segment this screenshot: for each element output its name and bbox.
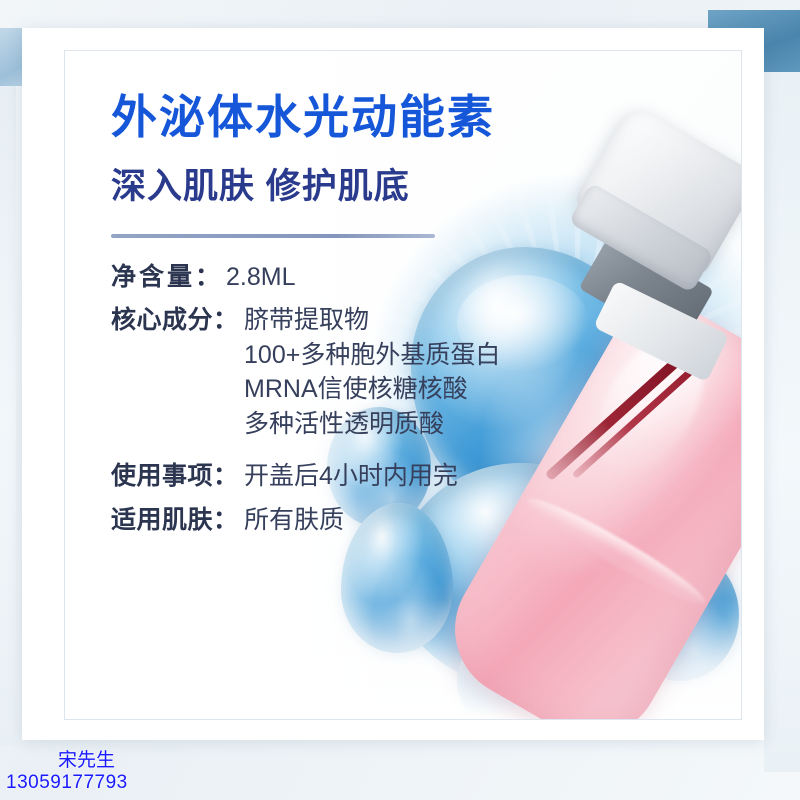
page-title: 外泌体水光动能素 <box>111 91 531 144</box>
ingredient-line: 100+多种胞外基质蛋白 <box>244 338 531 373</box>
spec-row-suitable-skin: 适用肌肤 ： 所有肤质 <box>111 503 531 538</box>
decor-edge-left <box>0 86 16 746</box>
spec-colon: ： <box>213 503 238 538</box>
spec-label: 净含量 <box>111 260 195 295</box>
water-droplet-icon <box>625 439 729 565</box>
spec-colon: ： <box>213 459 238 494</box>
spec-list: 净含量 ： 2.8ML 核心成分 ： 脐带提取物 100+多种胞外基质蛋白 MR… <box>111 260 531 538</box>
spec-value: 2.8ML <box>226 260 531 295</box>
card-inner-frame: 外泌体水光动能素 深入肌肤 修护肌底 净含量 ： 2.8ML 核心成分 ： 脐带… <box>64 50 742 720</box>
spec-row-usage: 使用事项 ： 开盖后4小时内用完 <box>111 459 531 494</box>
spec-value: 脐带提取物 100+多种胞外基质蛋白 MRNA信使核糖核酸 多种活性透明质酸 <box>244 303 531 441</box>
spec-row-core-ingredients: 核心成分 ： 脐带提取物 100+多种胞外基质蛋白 MRNA信使核糖核酸 多种活… <box>111 303 531 441</box>
decor-edge-right <box>764 72 800 772</box>
artwork-fade-bottom <box>65 599 741 719</box>
ingredient-line: 脐带提取物 <box>244 306 369 334</box>
title-divider <box>111 234 435 238</box>
spec-label: 适用肌肤 <box>111 503 213 538</box>
spec-value: 开盖后4小时内用完 <box>244 459 531 494</box>
spec-label: 使用事项 <box>111 459 213 494</box>
ingredient-line: 多种活性透明质酸 <box>244 407 531 442</box>
spec-colon: ： <box>213 303 238 338</box>
spec-value: 所有肤质 <box>244 503 531 538</box>
spec-colon: ： <box>195 260 220 295</box>
page-subtitle: 深入肌肤 修护肌底 <box>111 166 531 208</box>
product-info-card: 外泌体水光动能素 深入肌肤 修护肌底 净含量 ： 2.8ML 核心成分 ： 脐带… <box>22 28 764 740</box>
spec-row-net-volume: 净含量 ： 2.8ML <box>111 260 531 295</box>
ingredient-line: MRNA信使核糖核酸 <box>244 372 531 407</box>
watermark-phone: 13059177793 <box>6 772 128 794</box>
watermark-name: 宋先生 <box>58 750 128 772</box>
watermark: 宋先生 13059177793 <box>6 750 128 794</box>
product-text-block: 外泌体水光动能素 深入肌肤 修护肌底 净含量 ： 2.8ML 核心成分 ： 脐带… <box>111 91 531 546</box>
spec-label: 核心成分 <box>111 303 213 338</box>
